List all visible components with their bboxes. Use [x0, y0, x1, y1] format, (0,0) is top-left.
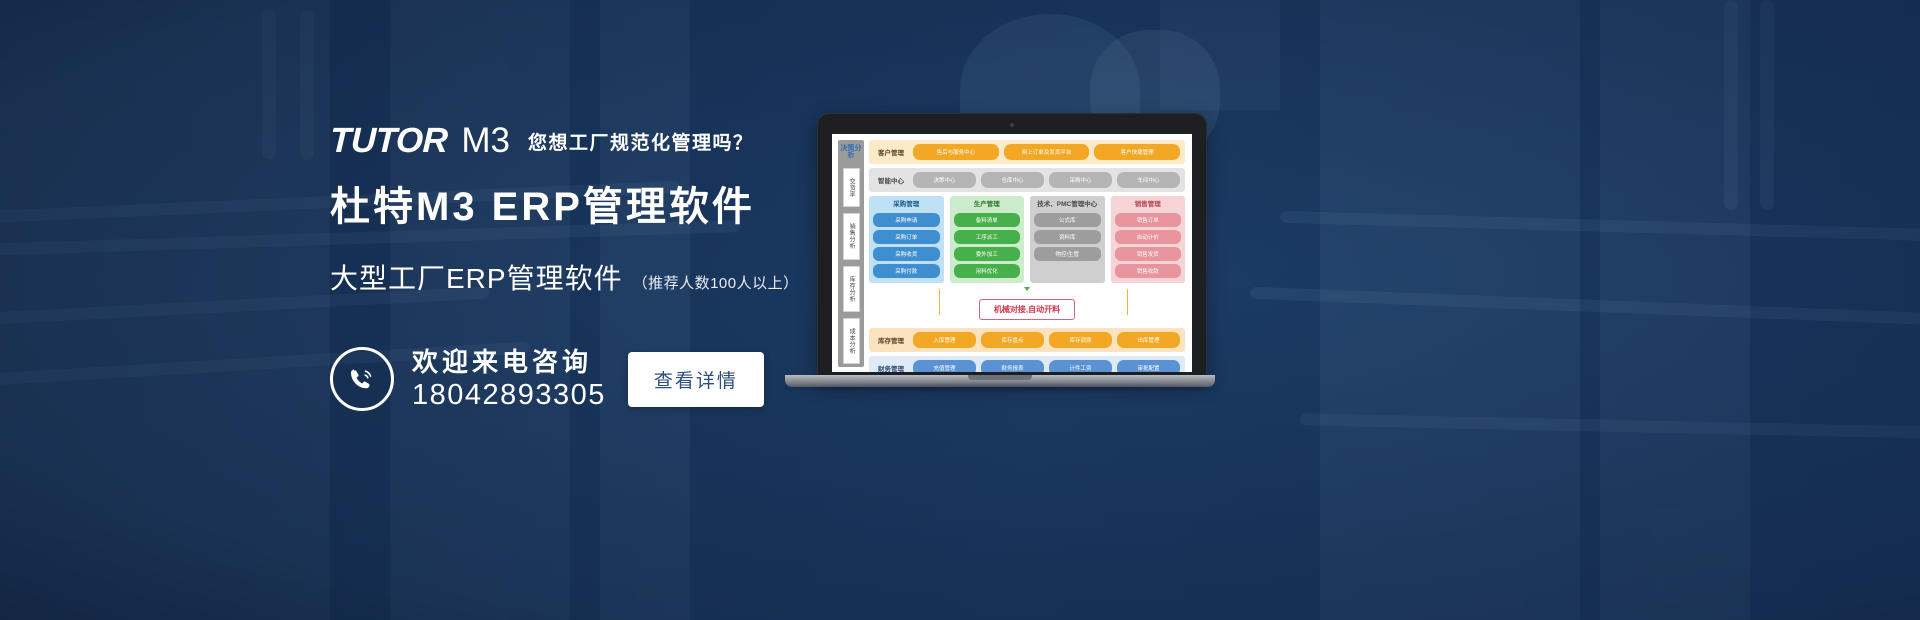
erp-column-tech-pmc: 技术、PMC管理中心 公式库 资料库 物控/生管: [1030, 196, 1105, 283]
erp-highlight-wrap: 机械对接,自动开料: [869, 295, 1185, 324]
erp-item-tech-1[interactable]: 资料库: [1034, 230, 1101, 244]
hero-banner: TUTOR M3 您想工厂规范化管理吗？ 杜特M3 ERP管理软件 大型工厂ER…: [0, 0, 1920, 620]
view-details-button[interactable]: 查看详情: [628, 352, 764, 407]
arrow-down-icon: [1024, 287, 1030, 291]
erp-chip-customer-1[interactable]: 网上订单及发货平台: [1004, 144, 1090, 160]
erp-main: 客户管理 售后与服务中心 网上订单及发货平台 客户快捷管理 智能中心 决策中心 …: [864, 140, 1185, 367]
erp-architecture-diagram: 决策分析 交货率 销售分析 库存分析 成本分析 客户管理 售后与服务中心 网上订…: [832, 134, 1192, 372]
erp-band-customer: 客户管理 售后与服务中心 网上订单及发货平台 客户快捷管理: [869, 140, 1185, 164]
erp-item-production-3[interactable]: 用料优化: [954, 264, 1021, 278]
erp-item-purchase-0[interactable]: 采购申请: [873, 213, 940, 227]
erp-chip-finance-3[interactable]: 审批配置: [1117, 360, 1180, 372]
webcam-icon: [1010, 123, 1014, 127]
erp-chip-customer-2[interactable]: 客户快捷管理: [1094, 144, 1180, 160]
erp-chip-customer-0[interactable]: 售后与服务中心: [913, 144, 999, 160]
erp-item-tech-0[interactable]: 公式库: [1034, 213, 1101, 227]
erp-band-smart-label: 智能中心: [874, 175, 908, 185]
erp-column-purchase: 采购管理 采购申请 采购订单 采购收货 采购付款: [869, 196, 944, 283]
erp-item-purchase-1[interactable]: 采购订单: [873, 230, 940, 244]
erp-column-purchase-title: 采购管理: [873, 200, 940, 210]
erp-sidebar-title: 决策分析: [838, 143, 864, 162]
erp-chip-smart-0[interactable]: 决策中心: [913, 172, 976, 188]
erp-chip-smart-2[interactable]: 采购中心: [1049, 172, 1112, 188]
brand-name: TUTOR: [329, 123, 448, 158]
laptop-shadow: [779, 385, 1221, 390]
erp-column-sales-title: 销售管理: [1115, 200, 1182, 210]
erp-column-production: 生产管理 备料清单 工序派工 委外加工 用料优化: [950, 196, 1025, 283]
erp-item-tech-2[interactable]: 物控/生管: [1034, 247, 1101, 261]
erp-item-production-0[interactable]: 备料清单: [954, 213, 1021, 227]
phone-call-icon: [330, 347, 394, 411]
erp-band-smart-center: 智能中心 决策中心 仓库中心 采购中心 车间中心: [869, 168, 1185, 192]
erp-band-stock: 库存管理 入库管理 库存盘点 库存调拨 出库管理: [869, 328, 1185, 352]
erp-chip-stock-0[interactable]: 入库管理: [913, 332, 976, 348]
brand-tagline: 您想工厂规范化管理吗？: [528, 128, 754, 158]
contact-welcome: 欢迎来电咨询: [412, 347, 606, 378]
laptop-mockup: 决策分析 交货率 销售分析 库存分析 成本分析 客户管理 售后与服务中心 网上订…: [785, 113, 1215, 398]
contact-text: 欢迎来电咨询 18042893305: [412, 347, 606, 412]
subtitle-text: 大型工厂ERP管理软件: [330, 257, 623, 297]
erp-chip-stock-1[interactable]: 库存盘点: [981, 332, 1044, 348]
erp-chip-finance-0[interactable]: 充值管理: [913, 360, 976, 372]
erp-band-stock-label: 库存管理: [874, 335, 908, 345]
subtitle-note: （推荐人数100人以上）: [633, 272, 799, 293]
laptop-lid: 决策分析 交货率 销售分析 库存分析 成本分析 客户管理 售后与服务中心 网上订…: [817, 113, 1207, 381]
erp-band-customer-label: 客户管理: [874, 147, 908, 157]
contact-phone-number: 18042893305: [412, 378, 606, 412]
erp-columns: 采购管理 采购申请 采购订单 采购收货 采购付款 生产管理 备料清单 工序派工 …: [869, 196, 1185, 283]
erp-column-tech-title: 技术、PMC管理中心: [1034, 200, 1101, 210]
erp-sidebar: 决策分析 交货率 销售分析 库存分析 成本分析: [838, 140, 864, 367]
brand-product: M3: [461, 123, 510, 158]
erp-item-production-2[interactable]: 委外加工: [954, 247, 1021, 261]
erp-chip-smart-3[interactable]: 车间中心: [1117, 172, 1180, 188]
erp-highlight-callout: 机械对接,自动开料: [979, 299, 1075, 320]
erp-chip-stock-3[interactable]: 出库管理: [1117, 332, 1180, 348]
erp-item-purchase-2[interactable]: 采购收货: [873, 247, 940, 261]
erp-item-purchase-3[interactable]: 采购付款: [873, 264, 940, 278]
erp-flow-arrow: [869, 287, 1185, 291]
erp-item-production-1[interactable]: 工序派工: [954, 230, 1021, 244]
erp-chip-smart-1[interactable]: 仓库中心: [981, 172, 1044, 188]
erp-chip-finance-1[interactable]: 财务报表: [981, 360, 1044, 372]
erp-column-sales: 销售管理 销售订单 自动计价 销售发货 销售收款: [1111, 196, 1186, 283]
erp-band-finance: 财务管理 充值管理 财务报表 计件工资 审批配置: [869, 356, 1185, 372]
erp-sidebar-item-3[interactable]: 成本分析: [843, 318, 860, 364]
laptop-screen: 决策分析 交货率 销售分析 库存分析 成本分析 客户管理 售后与服务中心 网上订…: [832, 134, 1192, 372]
erp-sidebar-item-1[interactable]: 销售分析: [843, 213, 860, 259]
erp-sidebar-item-2[interactable]: 库存分析: [843, 266, 860, 312]
erp-item-sales-1[interactable]: 自动计价: [1115, 230, 1182, 244]
erp-item-sales-2[interactable]: 销售发货: [1115, 247, 1182, 261]
laptop-notch: [968, 375, 1032, 380]
erp-chip-stock-2[interactable]: 库存调拨: [1049, 332, 1112, 348]
erp-item-sales-3[interactable]: 销售收款: [1115, 264, 1182, 278]
erp-sidebar-item-0[interactable]: 交货率: [843, 168, 860, 208]
erp-band-finance-label: 财务管理: [874, 363, 908, 372]
erp-item-sales-0[interactable]: 销售订单: [1115, 213, 1182, 227]
erp-chip-finance-2[interactable]: 计件工资: [1049, 360, 1112, 372]
erp-column-production-title: 生产管理: [954, 200, 1021, 210]
